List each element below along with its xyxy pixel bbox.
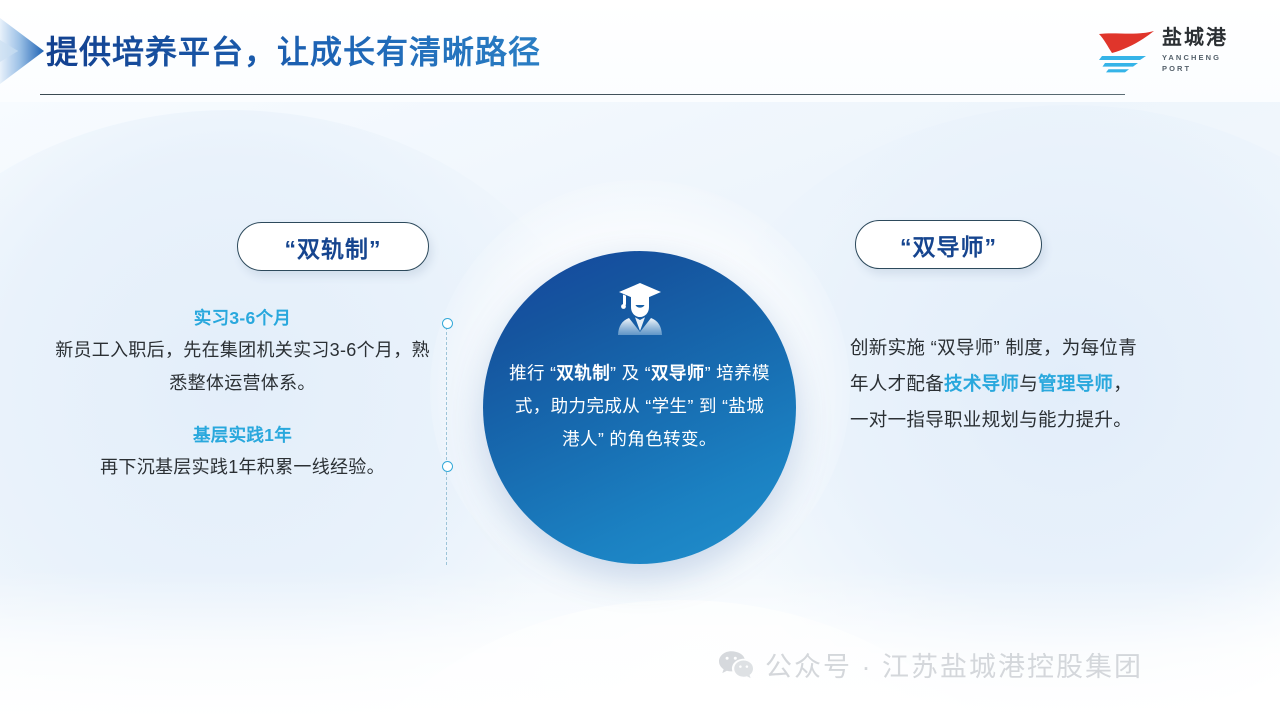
left-step-1-heading: 实习3-6个月 (55, 305, 430, 331)
label-pill-dual-mentor-text: “双导师” (900, 228, 997, 262)
plain-text: 与 (1019, 373, 1038, 394)
emphasis-text: 双导师 (651, 363, 705, 383)
label-pill-dual-track-text: “双轨制” (285, 230, 382, 264)
emphasis-text: 管理导师 (1038, 373, 1113, 394)
label-pill-dual-mentor[interactable]: “双导师” (855, 220, 1042, 269)
left-step-spacer (55, 400, 430, 422)
left-step-1: 实习3-6个月 新员工入职后，先在集团机关实习3-6个月，熟悉整体运营体系。 (55, 305, 430, 400)
center-description: 推行 “双轨制” 及 “双导师” 培养模式，助力完成从 “学生” 到 “盐城港人… (507, 357, 772, 456)
wechat-icon (718, 650, 754, 680)
timeline-dot-2 (442, 461, 453, 472)
brand-name-en: YANCHENG PORT (1162, 52, 1246, 74)
timeline-dashed-line (446, 322, 447, 565)
right-content-column: 创新实施 “双导师” 制度，为每位青年人才配备技术导师与管理导师，一对一指导职业… (850, 330, 1150, 438)
emphasis-text: 技术导师 (944, 373, 1019, 394)
watermark: 公众号 · 江苏盐城港控股集团 (718, 645, 1143, 684)
page-title: 提供培养平台，让成长有清晰路径 (46, 27, 541, 73)
timeline-dot-1 (442, 318, 453, 329)
graduate-student-icon (609, 277, 671, 339)
label-pill-dual-track[interactable]: “双轨制” (237, 222, 429, 271)
left-content-column: 实习3-6个月 新员工入职后，先在集团机关实习3-6个月，熟悉整体运营体系。 基… (55, 305, 430, 484)
yancheng-port-sail-logo-icon (1096, 28, 1158, 74)
left-step-2-heading: 基层实践1年 (55, 422, 430, 448)
left-step-2: 基层实践1年 再下沉基层实践1年积累一线经验。 (55, 422, 430, 484)
brand-name-cn: 盐城港 (1162, 26, 1246, 50)
emphasis-text: 双轨制 (556, 363, 610, 383)
left-step-1-body: 新员工入职后，先在集团机关实习3-6个月，熟悉整体运营体系。 (55, 334, 430, 400)
watermark-text: 公众号 · 江苏盐城港控股集团 (765, 645, 1143, 684)
brand-logo-text: 盐城港 YANCHENG PORT (1162, 26, 1246, 74)
plain-text: 推行 “ (509, 363, 556, 383)
slide-root: 提供培养平台，让成长有清晰路径 盐城港 YANCHENG PORT “双轨制” … (0, 0, 1280, 720)
brand-logo: 盐城港 YANCHENG PORT (1096, 24, 1244, 78)
header-bar: 提供培养平台，让成长有清晰路径 盐城港 YANCHENG PORT (0, 0, 1280, 102)
center-highlight-circle: 推行 “双轨制” 及 “双导师” 培养模式，助力完成从 “学生” 到 “盐城港人… (483, 251, 796, 564)
left-step-2-body: 再下沉基层实践1年积累一线经验。 (55, 451, 430, 484)
header-divider (40, 94, 1125, 95)
plain-text: ” 及 “ (610, 363, 651, 383)
